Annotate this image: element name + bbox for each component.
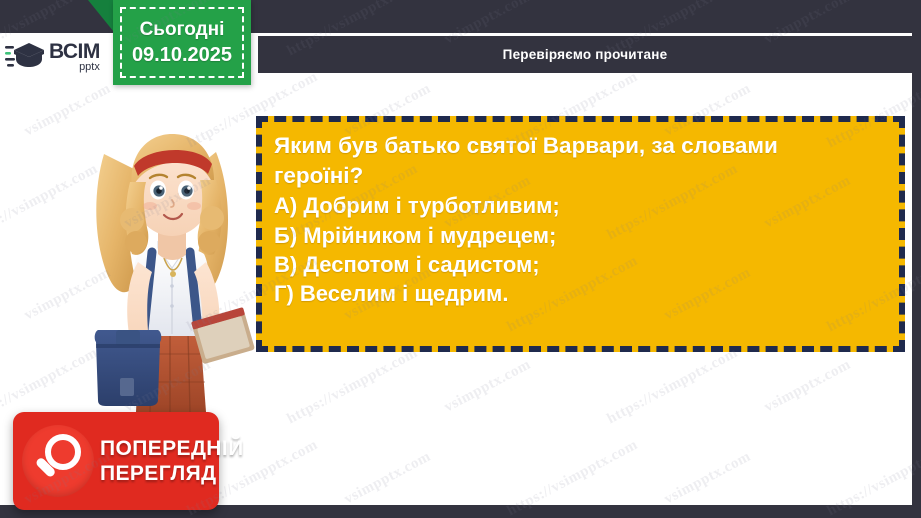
- answer-option-c[interactable]: В) Деспотом і садистом;: [274, 250, 889, 279]
- vsim-pptx-logo[interactable]: ВСІМ pptx: [0, 33, 110, 81]
- logo-subtitle: pptx: [49, 62, 100, 72]
- preview-badge-line-2: ПЕРЕГЛЯД: [100, 463, 244, 484]
- answer-option-b[interactable]: Б) Мрійником і мудрецем;: [274, 221, 889, 250]
- date-badge-date: 09.10.2025: [132, 44, 232, 67]
- magnifier-icon: [22, 425, 94, 497]
- obscured-line-2: [8, 460, 12, 490]
- obscured-line-1: [8, 430, 12, 460]
- date-badge: Сьогодні 09.10.2025: [113, 0, 251, 85]
- graduation-cap-icon: [5, 40, 45, 74]
- question-line-1: Яким був батько святої Варвари, за слова…: [274, 131, 889, 161]
- preview-badge-line-1: ПОПЕРЕДНІЙ: [100, 438, 244, 459]
- question-card: Яким був батько святої Варвари, за слова…: [256, 116, 905, 352]
- question-text: Яким був батько святої Варвари, за слова…: [274, 131, 889, 190]
- preview-badge[interactable]: ПОПЕРЕДНІЙ ПЕРЕГЛЯД: [13, 412, 219, 510]
- slide-root: ВСІМ pptx Сьогодні 09.10.2025 Перевіряєм…: [0, 0, 921, 518]
- answer-option-d[interactable]: Г) Веселим і щедрим.: [274, 279, 889, 308]
- obscured-footer-text: [8, 430, 12, 491]
- question-line-2: героїні?: [274, 161, 889, 191]
- answer-option-a[interactable]: А) Добрим і турботливим;: [274, 191, 889, 220]
- date-badge-label: Сьогодні: [140, 19, 225, 41]
- logo-title: ВСІМ: [49, 42, 100, 61]
- header-bar: Перевіряємо прочитане: [258, 36, 912, 73]
- page-title: Перевіряємо прочитане: [503, 47, 668, 62]
